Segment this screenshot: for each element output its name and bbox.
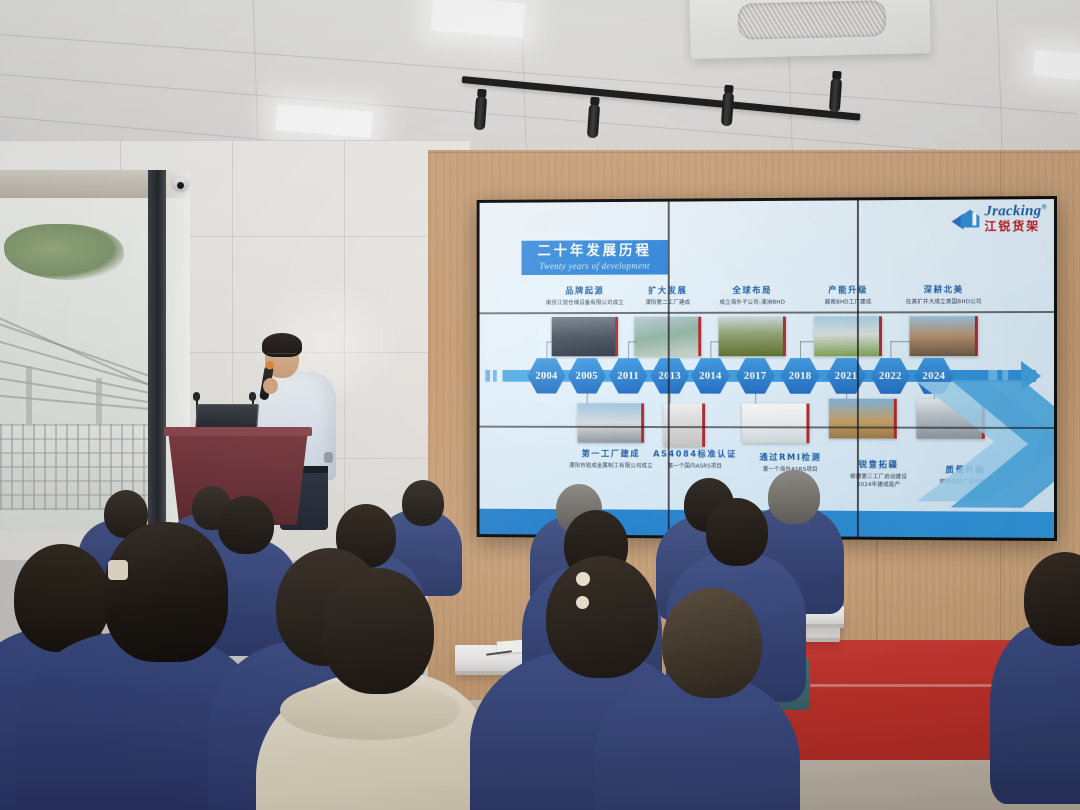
ac-grille-icon: [738, 0, 887, 40]
event-heading: 第一工厂建成: [569, 447, 653, 459]
outdoor-trees: [4, 224, 124, 280]
ceiling-light-panel: [1033, 50, 1080, 81]
timeline-event: 第一工厂建成 溧阳市锐成金属制工有限公司成立: [569, 447, 653, 469]
ceiling-light-panel: [431, 0, 525, 38]
event-subtext: 溧阳市锐成金属制工有限公司成立: [569, 461, 653, 469]
event-heading: AS4084标准认证: [653, 448, 737, 460]
year-marker: 2017: [736, 358, 775, 394]
year-marker: 2021: [827, 358, 866, 394]
glasses-icon: [266, 353, 297, 361]
ceiling-light-panel: [275, 104, 373, 138]
spotlight-icon: [829, 78, 842, 113]
event-subtext: 第一个国内ASRS项目: [653, 461, 737, 469]
year-marker: 2004: [527, 358, 565, 393]
year-marker: 2013: [650, 358, 689, 393]
spotlight-icon: [721, 92, 734, 127]
presenter-hand: [263, 378, 278, 394]
hair-clip-icon: [576, 596, 589, 609]
display-bezel: [857, 200, 859, 536]
event-photo: [829, 399, 897, 439]
display-bezel: [668, 202, 670, 536]
microphone-icon: [249, 392, 256, 401]
microphone-icon: [193, 392, 200, 401]
year-marker: 2011: [609, 358, 648, 393]
event-photo: [742, 404, 809, 444]
photo-scene: Jracking® 江锐货架 二十年发展历程 Twenty years of d…: [0, 0, 1080, 810]
ceiling-air-conditioner: [689, 0, 931, 59]
spotlight-icon: [587, 104, 600, 139]
year-marker: 2005: [568, 358, 606, 393]
event-photo: [578, 403, 644, 442]
year-marker: 2018: [781, 358, 820, 394]
hair-clip-icon: [108, 560, 128, 580]
window: [0, 170, 190, 530]
spotlight-icon: [474, 96, 487, 131]
hair-clip-icon: [576, 572, 590, 586]
year-marker: 2022: [871, 358, 910, 394]
timeline-event: AS4084标准认证 第一个国内ASRS项目: [653, 448, 737, 470]
wristwatch: [324, 452, 333, 463]
year-marker: 2014: [691, 358, 730, 394]
podium-top: [164, 427, 312, 436]
security-camera-icon: [173, 178, 188, 190]
window-mullion: [148, 170, 166, 530]
event-heading: 通过RMI检测: [759, 451, 821, 463]
